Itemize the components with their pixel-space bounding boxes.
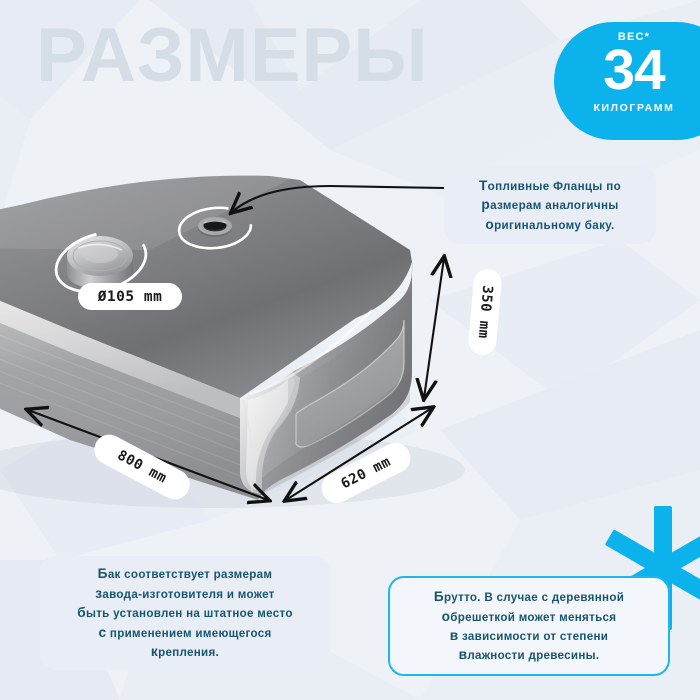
flange-highlight-ring bbox=[177, 204, 253, 251]
note-left-line-5: крепления. bbox=[77, 642, 292, 661]
flange-callout-line-1: Топливные Фланцы по bbox=[479, 176, 621, 195]
filler-cap bbox=[67, 236, 133, 288]
flange-port bbox=[198, 217, 232, 237]
note-left-line-3: быть установлен на штатное место bbox=[77, 603, 292, 622]
note-right-line-4: влажности древесины. bbox=[434, 645, 624, 664]
note-left-box: Бак соответствует размерам завода-изгото… bbox=[40, 556, 330, 670]
flange-callout-line-2: размерам аналогичны bbox=[479, 195, 621, 214]
dimension-line-height bbox=[424, 258, 444, 398]
note-left-line-4: с применением имеющегося bbox=[77, 623, 292, 642]
infographic-canvas: РАЗМЕРЫ bbox=[0, 0, 700, 700]
weight-badge: ВЕС* 34 КИЛОГРАММ bbox=[554, 22, 700, 140]
dimension-label-diameter: Ø105 mm bbox=[78, 283, 182, 310]
note-left-line-2: завода-изготовителя и может bbox=[77, 584, 292, 603]
dimension-label-depth: 620 mm bbox=[316, 438, 415, 508]
dimension-label-height: 350 mm bbox=[467, 268, 502, 356]
note-right-line-1: Брутто. В случае с деревянной bbox=[434, 587, 624, 606]
weight-value: 34 bbox=[532, 43, 700, 99]
page-title-watermark: РАЗМЕРЫ bbox=[36, 18, 429, 94]
flange-callout-box: Топливные Фланцы по размерам аналогичны … bbox=[444, 166, 656, 244]
flange-callout-line-3: оригинальному баку. bbox=[479, 215, 621, 234]
weight-unit: КИЛОГРАММ bbox=[532, 102, 700, 114]
note-left-line-1: Бак соответствует размерам bbox=[77, 564, 292, 583]
note-right-box: Брутто. В случае с деревянной обрешеткой… bbox=[388, 576, 670, 676]
dimension-label-length: 800 mm bbox=[89, 429, 195, 504]
note-right-line-3: в зависимости от степени bbox=[434, 626, 624, 645]
note-right-line-2: обрешеткой может меняться bbox=[434, 607, 624, 626]
curved-arrow-icon bbox=[232, 186, 444, 212]
